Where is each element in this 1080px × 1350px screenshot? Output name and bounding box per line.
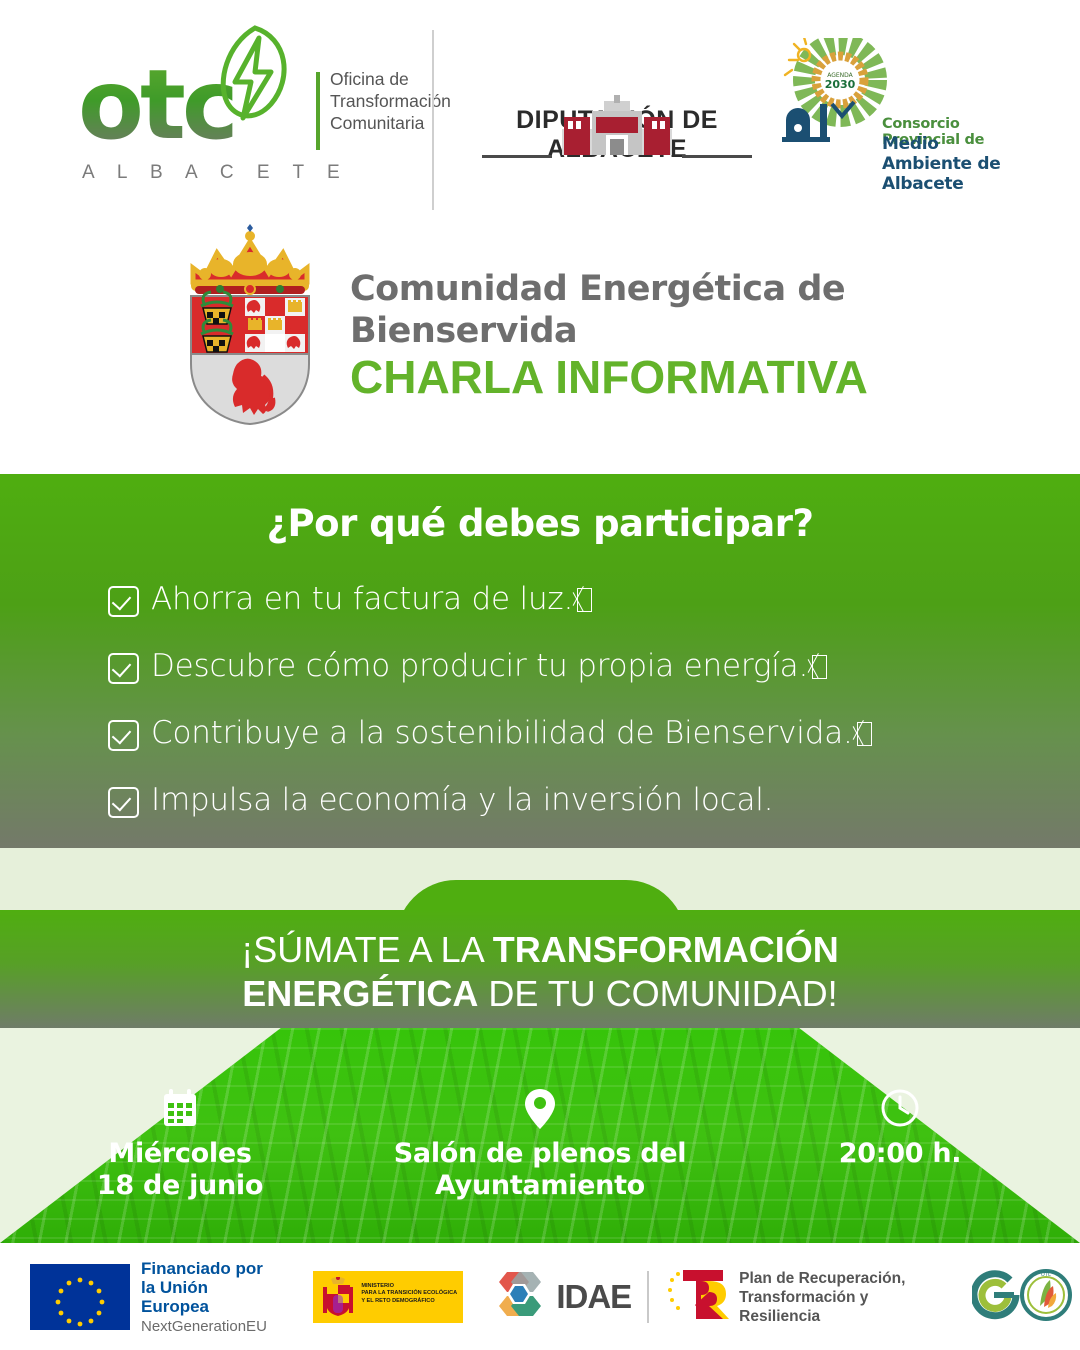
palace-building-icon (562, 95, 672, 162)
otc-logo-city: A L B A C E T E (82, 162, 349, 184)
consorcio-line2: Medio Ambiente de Albacete (882, 134, 1020, 194)
benefit-text: Contribuye a la sostenibilidad de Biense… (151, 715, 872, 751)
diputacion-logo: DIPUTACIÓN DE ALBACETE (482, 100, 752, 195)
missing-glyph-icon (812, 655, 827, 679)
event-photo-section: Miércoles 18 de junio Salón de plenos de… (0, 1028, 1080, 1243)
event-location-line1: Salón de plenos del (360, 1138, 720, 1170)
cta-part2: DE TU COMUNIDAD! (478, 973, 837, 1014)
ministerio-line3: Y EL RETO DEMOGRÁFICO (361, 1298, 457, 1305)
prtr-line1: Plan de Recuperación, (739, 1269, 952, 1288)
title-line-3: CHARLA INFORMATIVA (350, 350, 868, 404)
eu-line3: NextGenerationEU (141, 1318, 279, 1335)
benefit-text: Ahorra en tu factura de luz. (151, 581, 592, 617)
cta-bold2: ENERGÉTICA (242, 973, 478, 1014)
missing-glyph-icon (857, 722, 872, 746)
diputacion-rule-right (682, 155, 752, 158)
otc-logo: otc A L B A C E T E Oficina de Transform… (78, 40, 418, 190)
poster-root: otc A L B A C E T E Oficina de Transform… (0, 0, 1080, 1350)
list-item: Contribuye a la sostenibilidad de Biense… (108, 715, 1028, 751)
list-item: Ahorra en tu factura de luz. (108, 581, 1028, 617)
prtr-line2: Transformación y Resiliencia (739, 1288, 952, 1326)
event-time-line1: 20:00 h. (720, 1138, 1080, 1170)
checkbox-checked-icon (108, 787, 139, 818)
idae-logo: IDAE (491, 1268, 631, 1327)
footer-logos: Financiado por la Unión Europea NextGene… (0, 1243, 1080, 1350)
list-item: Descubre cómo producir tu propia energía… (108, 648, 1028, 684)
ministerio-text: MINISTERIO PARA LA TRANSICIÓN ECOLÓGICA … (361, 1283, 457, 1305)
eu-line2: la Unión Europea (141, 1278, 279, 1316)
benefits-heading: ¿Por qué debes participar? (0, 502, 1080, 545)
event-time: 20:00 h. (720, 1028, 1080, 1243)
calendar-icon (0, 1088, 360, 1130)
eu-funding-text: Financiado por la Unión Europea NextGene… (141, 1259, 279, 1335)
title-block: Comunidad Energética de Bienservida CHAR… (0, 214, 1080, 474)
event-date-line1: Miércoles (0, 1138, 360, 1170)
title-line-1: Comunidad Energética de (350, 268, 950, 310)
benefits-section: ¿Por qué debes participar? Ahorra en tu … (0, 474, 1080, 848)
checkbox-checked-icon (108, 586, 139, 617)
checkbox-checked-icon (108, 720, 139, 751)
cta-text: ¡SÚMATE A LA TRANSFORMACIÓN ENERGÉTICA D… (0, 928, 1080, 1016)
bienservida-coat-of-arms-icon (175, 224, 325, 434)
event-location: Salón de plenos del Ayuntamiento (360, 1028, 720, 1243)
clock-icon (720, 1088, 1080, 1130)
eu-funding-logo: Financiado por la Unión Europea NextGene… (30, 1259, 279, 1335)
consorcio-logo: AGENDA 2030 Consorci (770, 38, 1020, 193)
prtr-text: Plan de Recuperación, Transformación y R… (739, 1269, 952, 1326)
event-date: Miércoles 18 de junio (0, 1028, 360, 1243)
logo-bar: otc A L B A C E T E Oficina de Transform… (0, 0, 1080, 214)
idae-knot-icon (491, 1268, 549, 1327)
benefits-list: Ahorra en tu factura de luz. Descubre có… (108, 581, 1028, 849)
location-pin-icon (360, 1088, 720, 1130)
eu-line1: Financiado por (141, 1259, 279, 1278)
svg-text:2030: 2030 (825, 78, 856, 91)
agenda2030-wheel-icon: AGENDA 2030 (778, 38, 888, 148)
event-location-line2: Ayuntamiento (360, 1170, 720, 1202)
title-line-2: Bienservida (350, 310, 950, 352)
prtr-tr-icon (665, 1266, 731, 1329)
eco-circles-icon: OTC (972, 1264, 1080, 1331)
cta-banner: ¡SÚMATE A LA TRANSFORMACIÓN ENERGÉTICA D… (0, 910, 1080, 1028)
cta-part1: ¡SÚMATE A LA (241, 929, 492, 970)
list-item: Impulsa la economía y la inversión local… (108, 782, 1028, 818)
leaf-bolt-icon (209, 22, 299, 137)
idae-label: IDAE (556, 1278, 631, 1316)
eu-flag-icon (30, 1264, 130, 1330)
missing-glyph-icon (577, 588, 592, 612)
diputacion-rule-left (482, 155, 552, 158)
svg-text:OTC: OTC (1041, 1272, 1052, 1278)
event-date-line2: 18 de junio (0, 1170, 360, 1202)
ministerio-logo: MINISTERIO PARA LA TRANSICIÓN ECOLÓGICA … (313, 1271, 463, 1323)
cta-bold1: TRANSFORMACIÓN (493, 929, 839, 970)
page-title: Comunidad Energética de Bienservida (350, 268, 950, 352)
footer-separator (647, 1271, 649, 1323)
otc-logo-divider (316, 72, 320, 150)
footer-row: Financiado por la Unión Europea NextGene… (0, 1257, 1080, 1337)
checkbox-checked-icon (108, 653, 139, 684)
header-divider (432, 30, 434, 210)
benefit-text: Impulsa la economía y la inversión local… (151, 782, 773, 818)
benefit-text: Descubre cómo producir tu propia energía… (151, 648, 827, 684)
prtr-logo: Plan de Recuperación, Transformación y R… (665, 1266, 952, 1329)
ministerio-line2: PARA LA TRANSICIÓN ECOLÓGICA (361, 1290, 457, 1297)
spain-coat-of-arms-icon (320, 1277, 356, 1322)
event-details-row: Miércoles 18 de junio Salón de plenos de… (0, 1028, 1080, 1243)
